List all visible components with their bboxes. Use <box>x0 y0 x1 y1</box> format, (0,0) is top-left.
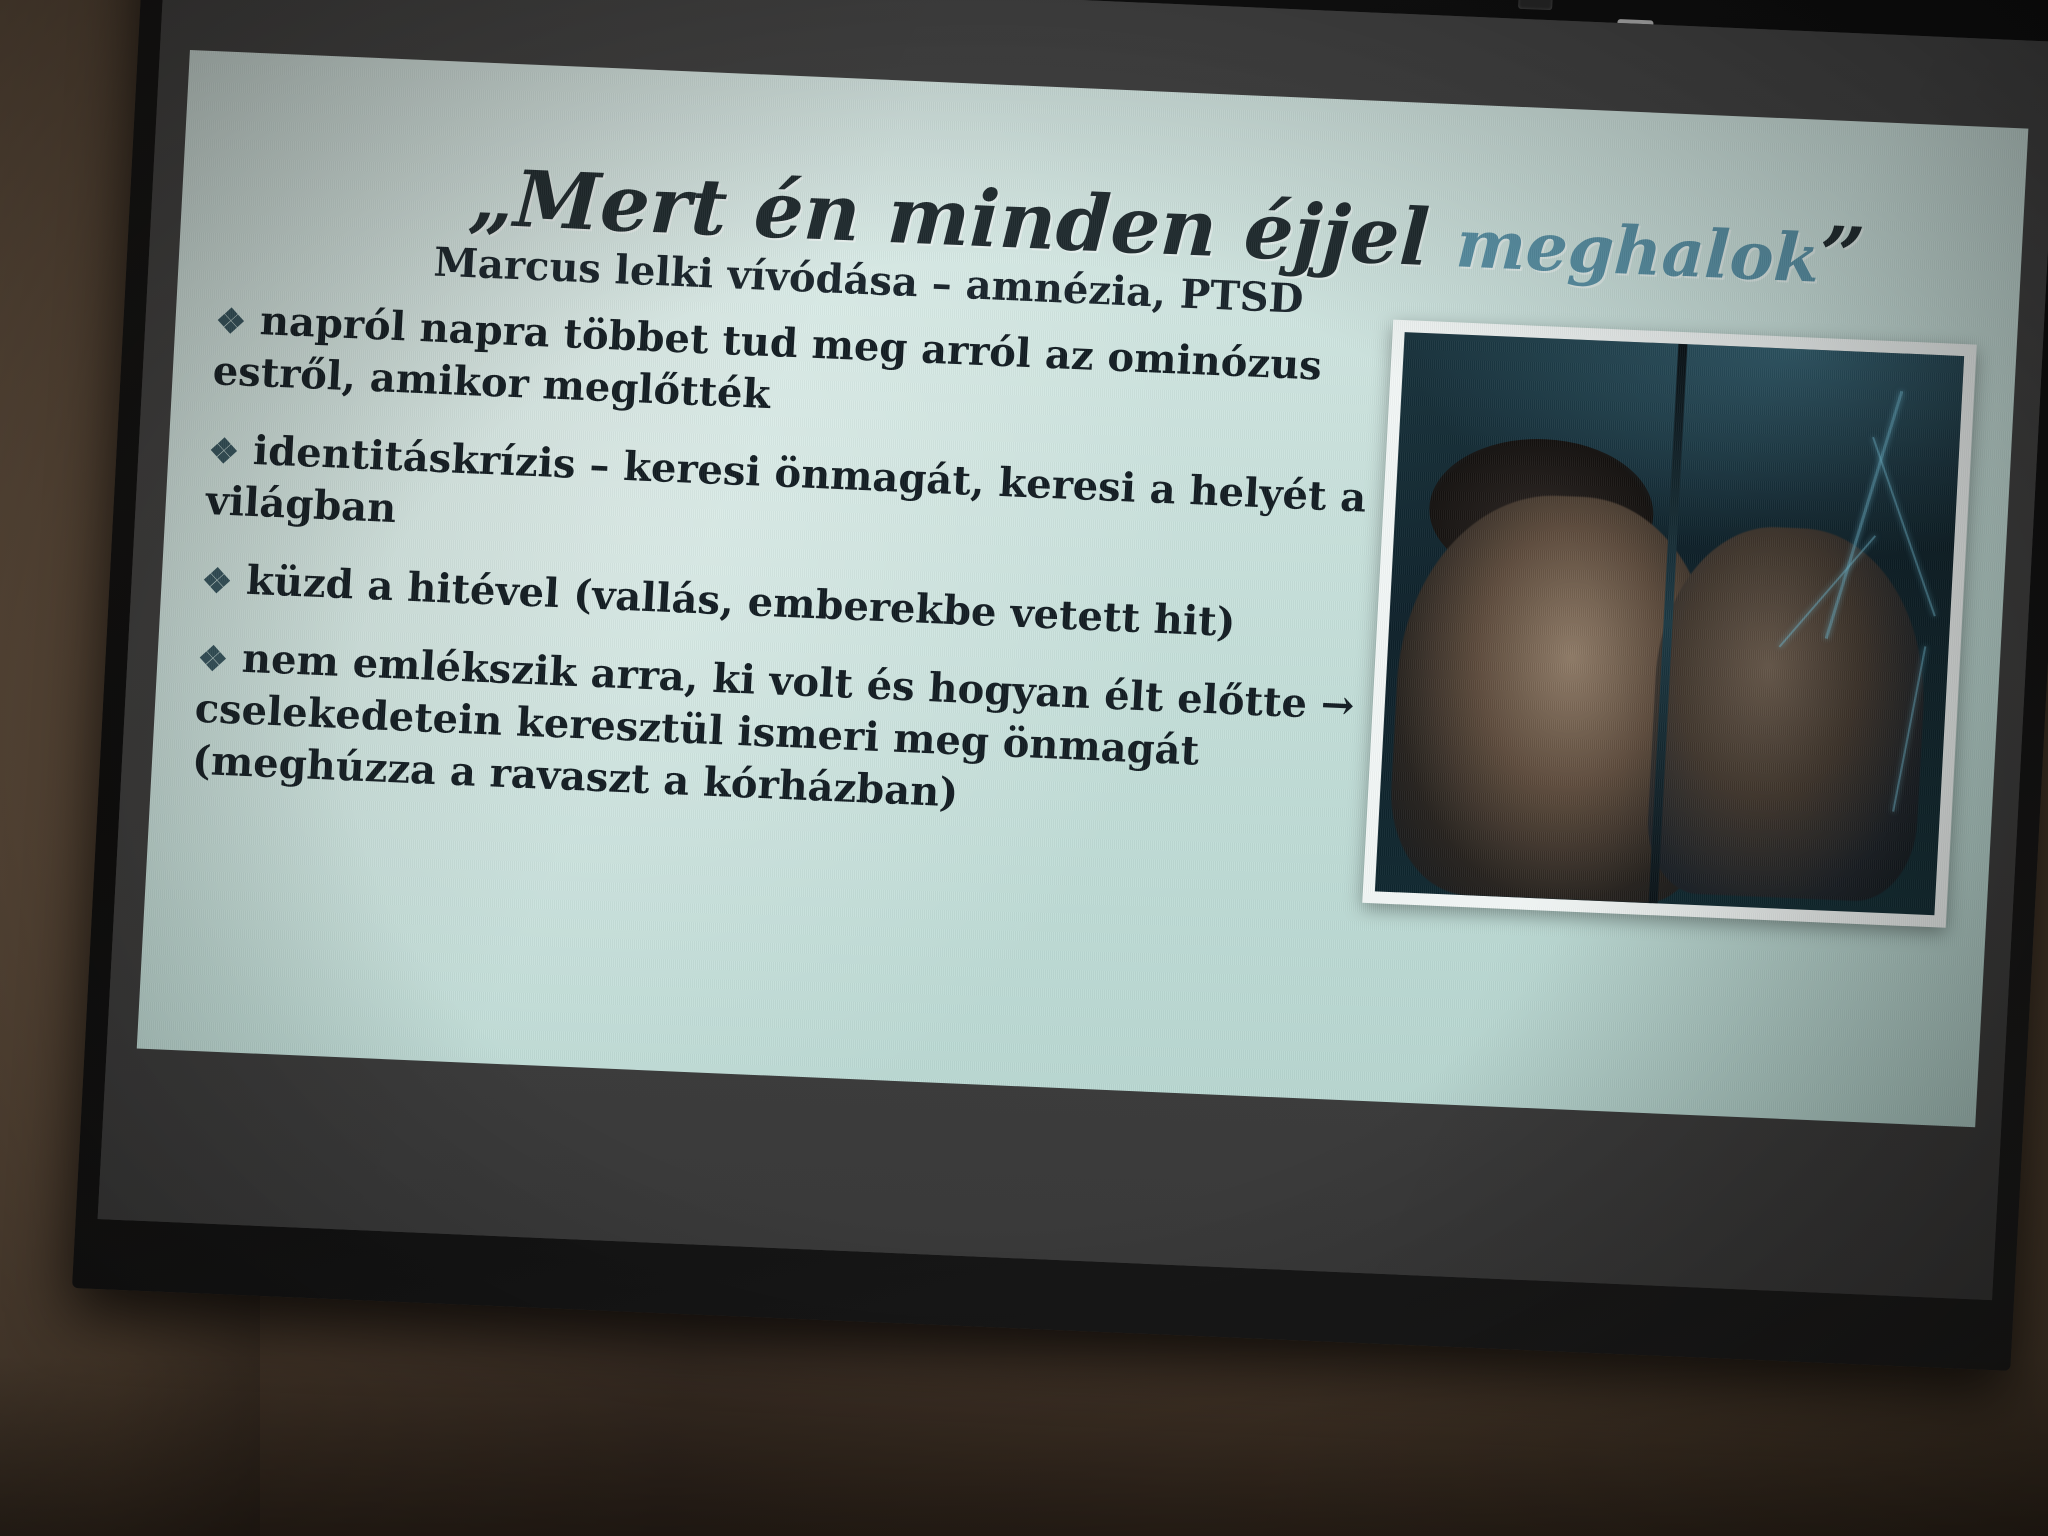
slide-title-accent: meghalok <box>1454 205 1821 298</box>
photo-scene: iQ Board <box>0 0 2048 1536</box>
list-item-text: nem emlékszik arra, ki volt és hogyan él… <box>191 635 1356 817</box>
bullet-diamond-icon: ❖ <box>208 431 241 472</box>
slide-title-close-quote: ” <box>1817 210 1867 303</box>
list-item-text: identitáskrízis – keresi önmagát, keresi… <box>205 427 1368 532</box>
interactive-whiteboard: iQ Board <box>61 0 2048 1536</box>
camera-sensor-icon <box>1518 0 1553 10</box>
split-portrait-photo <box>1375 332 1964 915</box>
room-floor-shadow <box>0 1356 2048 1536</box>
slide-image-frame <box>1362 320 1977 928</box>
presentation-slide: „Mert én minden éjjel meghalok” Marcus l… <box>137 50 2029 1127</box>
bullet-diamond-icon: ❖ <box>197 639 230 680</box>
list-item: ❖nem emlékszik arra, ki volt és hogyan é… <box>191 631 1388 838</box>
bullet-diamond-icon: ❖ <box>201 561 234 602</box>
list-item: ❖identitáskrízis – keresi önmagát, keres… <box>205 423 1400 578</box>
board-bezel: iQ Board <box>72 0 2048 1371</box>
bullet-diamond-icon: ❖ <box>214 301 247 342</box>
board-screen: „Mert én minden éjjel meghalok” Marcus l… <box>98 0 2048 1300</box>
list-item-text: küzd a hitével (vallás, emberekbe vetett… <box>245 557 1237 646</box>
slide-bullet-list: ❖napról napra többet tud meg arról az om… <box>189 293 1406 863</box>
